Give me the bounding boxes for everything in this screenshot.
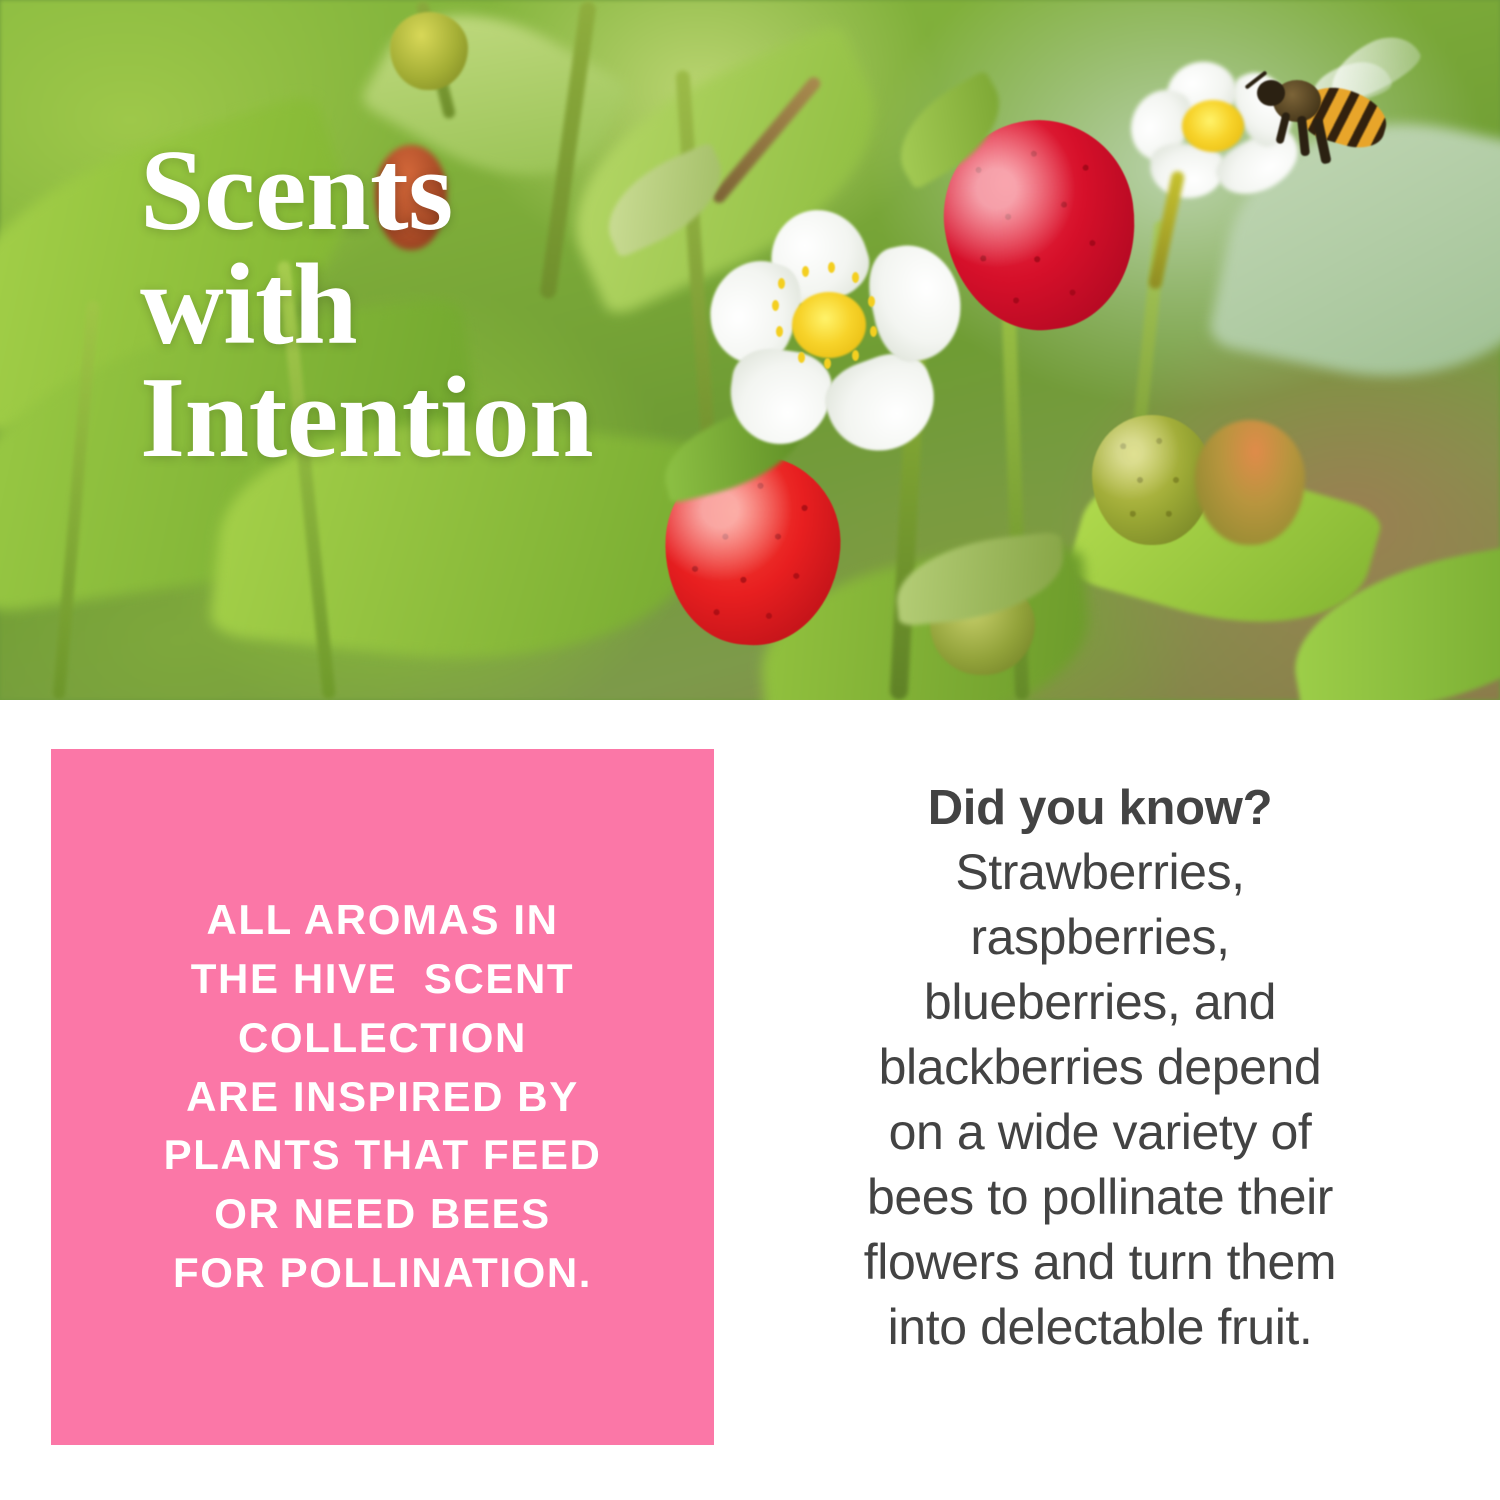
berry-texture (1092, 415, 1212, 545)
pink-statement-text: ALL AROMAS IN THE HIVE SCENT COLLECTION … (136, 891, 630, 1303)
fact-line-7: flowers and turn them (770, 1230, 1430, 1295)
stamen (852, 350, 859, 361)
fact-heading: Did you know? (770, 780, 1430, 838)
stamen (798, 352, 805, 363)
stem-icon (53, 300, 100, 700)
title-line-3: Intention (140, 362, 593, 476)
pink-line-2: THE HIVE SCENT (164, 950, 602, 1009)
lower-section: ALL AROMAS IN THE HIVE SCENT COLLECTION … (0, 700, 1500, 1500)
page-title: Scents with Intention (140, 135, 593, 476)
fact-line-8: into delectable fruit. (770, 1295, 1430, 1360)
unripe-strawberry-icon (1195, 420, 1305, 545)
flower-center (792, 292, 866, 358)
pink-line-6: OR NEED BEES (164, 1185, 602, 1244)
pink-line-3: COLLECTION (164, 1009, 602, 1068)
pink-line-1: ALL AROMAS IN (164, 891, 602, 950)
poster-canvas: Scents with Intention ALL AROMAS IN THE … (0, 0, 1500, 1500)
petal (861, 236, 971, 368)
bee-head (1257, 80, 1285, 106)
stamen (870, 326, 877, 337)
strawberry-flower-icon (700, 200, 1000, 480)
stamen (868, 296, 875, 307)
stamen (772, 300, 779, 311)
petal (724, 343, 836, 450)
stamen (776, 326, 783, 337)
fact-line-2: raspberries, (770, 905, 1430, 970)
stamen (802, 266, 809, 277)
fact-line-4: blackberries depend (770, 1035, 1430, 1100)
pink-line-7: FOR POLLINATION. (164, 1244, 602, 1303)
fact-line-3: blueberries, and (770, 970, 1430, 1035)
stamen (824, 358, 831, 369)
unripe-strawberry-icon (390, 12, 468, 90)
pink-line-5: PLANTS THAT FEED (164, 1126, 602, 1185)
hero-photo: Scents with Intention (0, 0, 1500, 700)
bee-leg (1275, 112, 1291, 145)
petal (816, 342, 949, 465)
unripe-strawberry-icon (1092, 415, 1212, 545)
honeybee-icon (1255, 60, 1425, 180)
stem-icon (710, 75, 823, 206)
fact-body: Strawberries, raspberries, blueberries, … (770, 840, 1430, 1360)
stamen (852, 272, 859, 283)
fact-line-1: Strawberries, (770, 840, 1430, 905)
title-line-1: Scents (140, 135, 593, 249)
stamen (778, 278, 785, 289)
fact-line-5: on a wide variety of (770, 1100, 1430, 1165)
pink-statement-panel: ALL AROMAS IN THE HIVE SCENT COLLECTION … (51, 749, 714, 1445)
stamen (828, 262, 835, 273)
pink-line-4: ARE INSPIRED BY (164, 1068, 602, 1127)
fact-line-6: bees to pollinate their (770, 1165, 1430, 1230)
title-line-2: with (140, 249, 593, 363)
flower-center (1182, 100, 1244, 152)
did-you-know-block: Did you know? Strawberries, raspberries,… (770, 780, 1430, 1360)
